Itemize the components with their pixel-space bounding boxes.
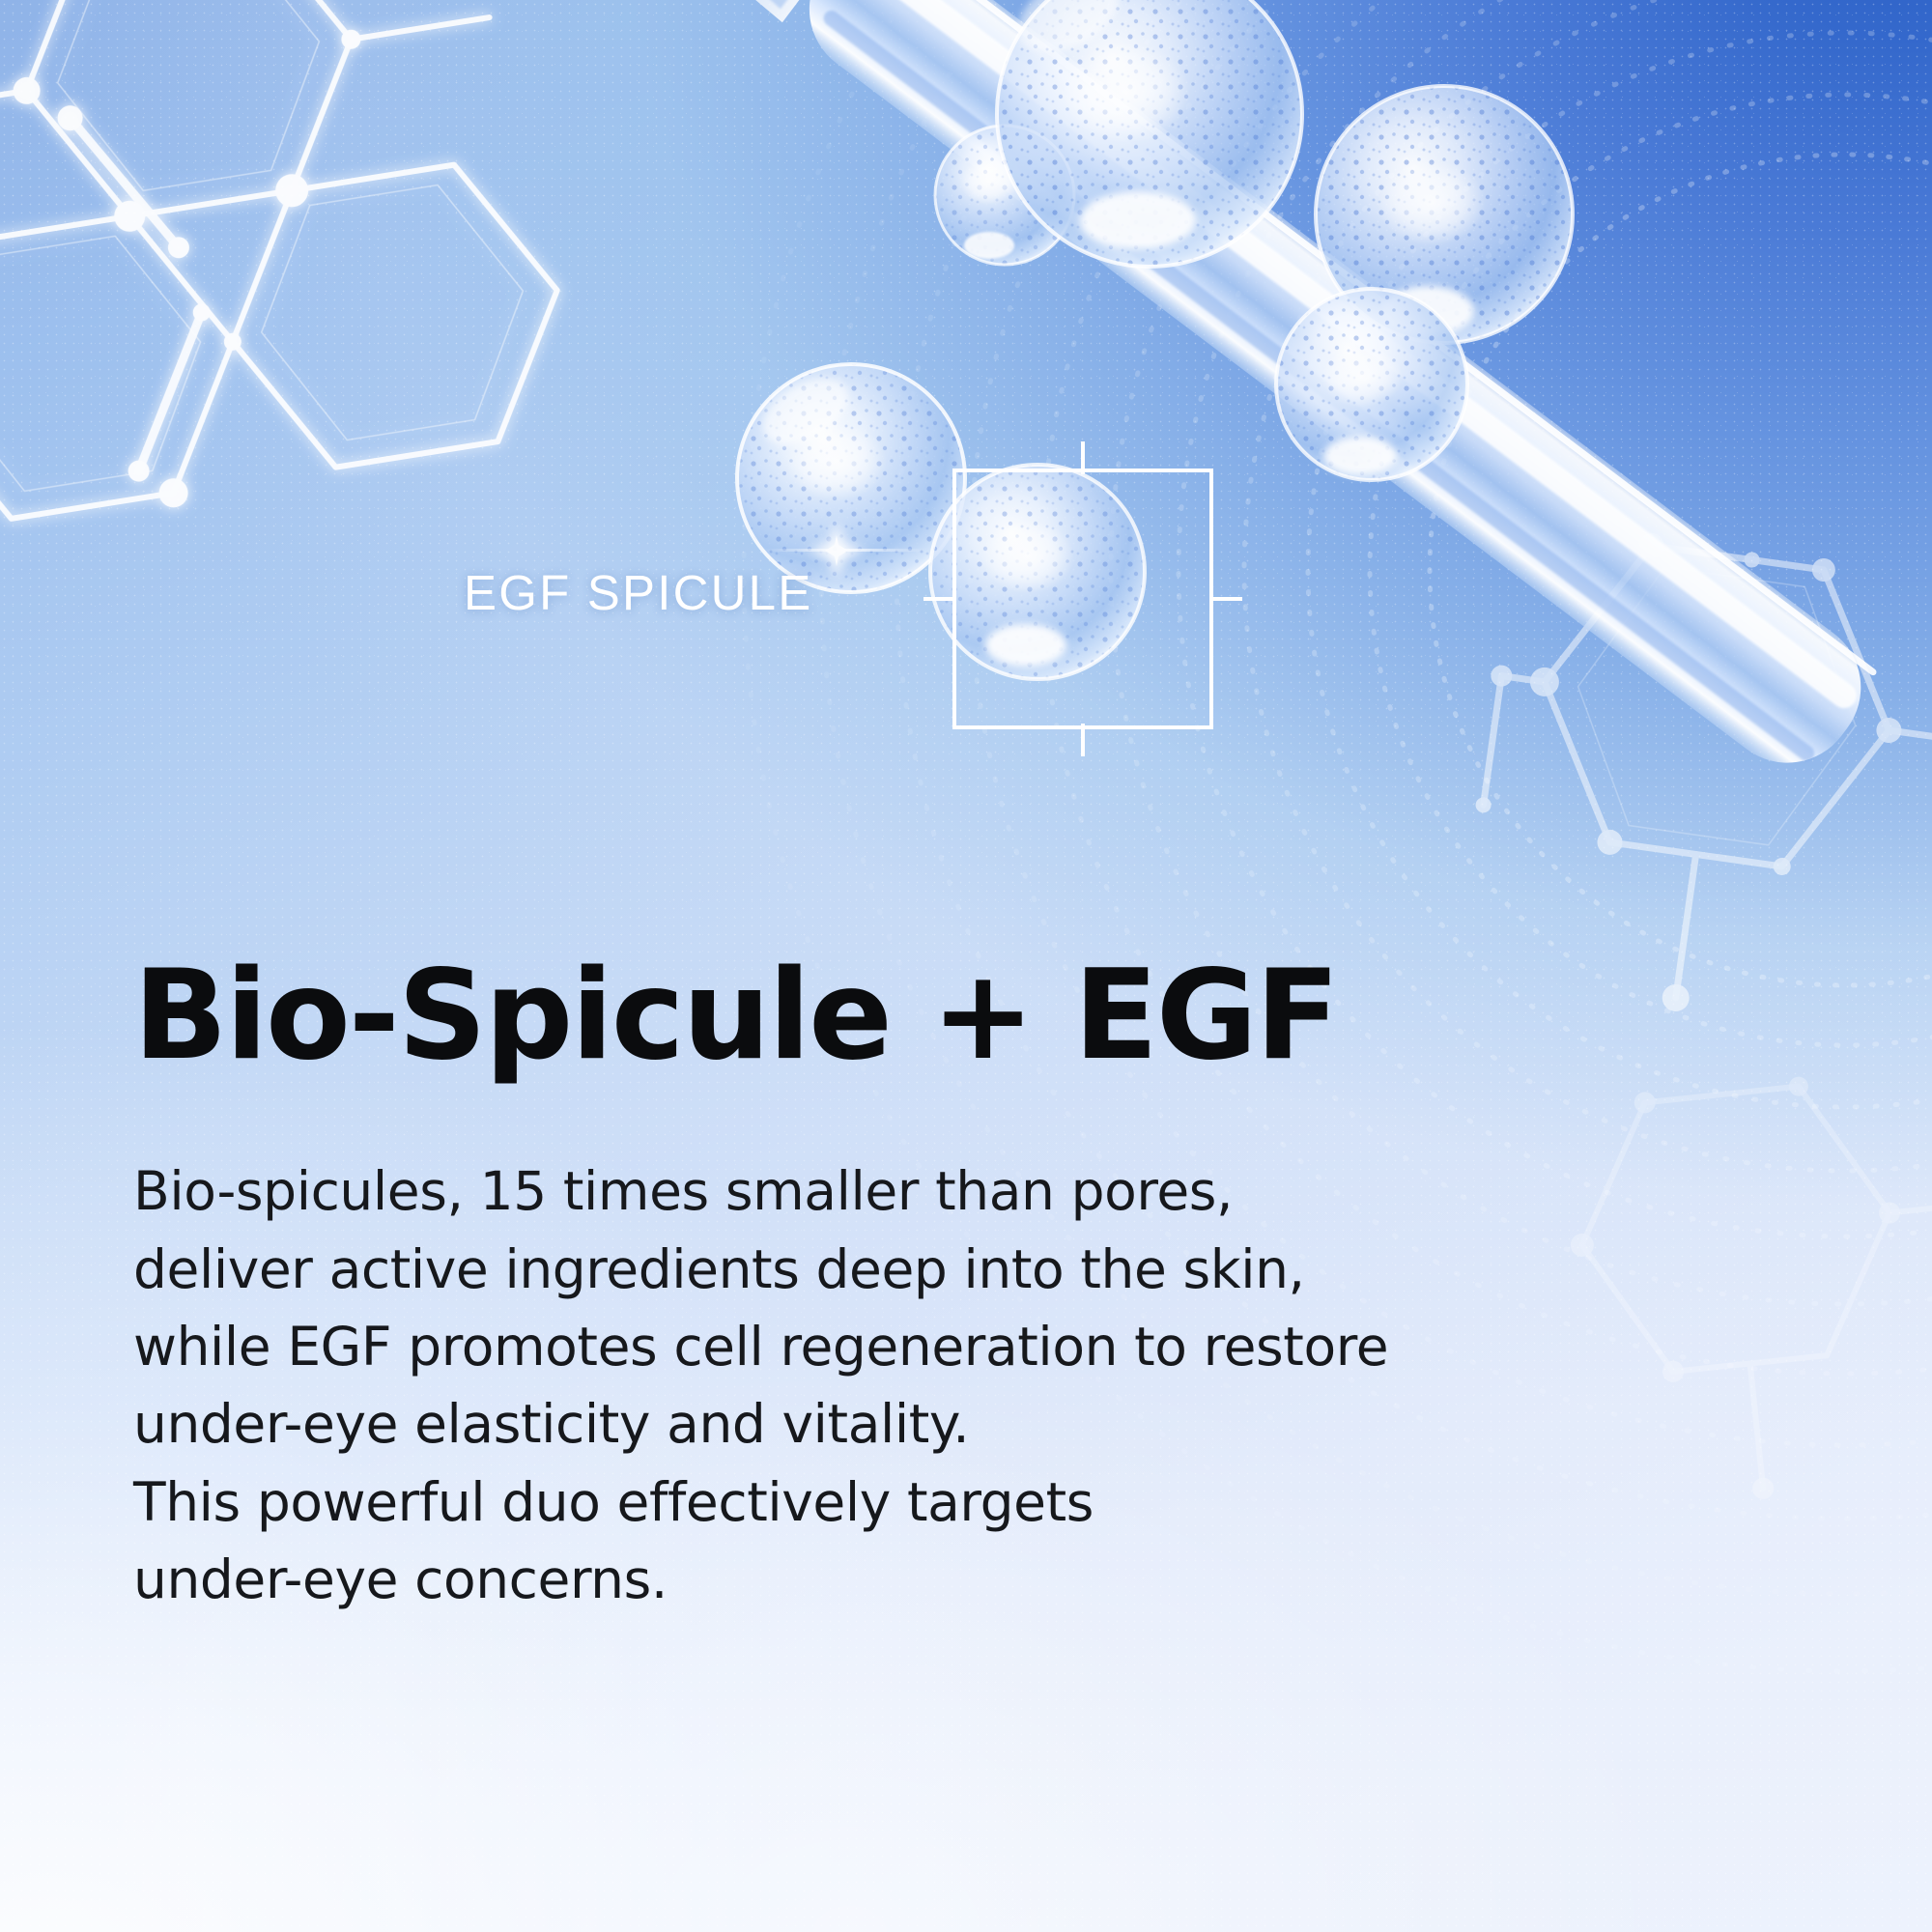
body-line: Bio-spicules, 15 times smaller than pore… <box>133 1152 1853 1230</box>
bubble-mid-lower <box>1276 289 1467 480</box>
glass-pipette-dropper-artwork <box>599 0 1932 1014</box>
bubble-lower-right <box>930 465 1145 679</box>
copy-block: Bio-Spicule + EGF Bio-spicules, 15 times… <box>133 947 1853 1618</box>
focus-bracket <box>952 469 1213 729</box>
body-line: deliver active ingredients deep into the… <box>133 1231 1853 1308</box>
body-paragraph: Bio-spicules, 15 times smaller than pore… <box>133 1152 1853 1618</box>
body-line: under-eye concerns. <box>133 1541 1853 1618</box>
bubble-focused <box>737 364 965 592</box>
bubble-large-top <box>997 0 1302 267</box>
crosshair-tick-right-icon <box>1209 597 1242 601</box>
hex-lattice-top-left <box>0 0 589 560</box>
focus-bracket-box <box>952 469 1213 729</box>
crosshair-tick-bottom-icon <box>1081 724 1085 756</box>
page-title: Bio-Spicule + EGF <box>133 947 1853 1085</box>
body-line: under-eye elasticity and vitality. <box>133 1385 1853 1463</box>
bubble-large-right <box>1316 86 1573 343</box>
bubble-small-left <box>935 126 1074 265</box>
body-line: while EGF promotes cell regeneration to … <box>133 1308 1853 1385</box>
crosshair-tick-left-icon <box>923 597 956 601</box>
callout-label-egf-spicule: EGF SPICULE <box>464 568 812 617</box>
crosshair-tick-top-icon <box>1081 441 1085 474</box>
infographic-canvas: EGF SPICULE Bio-Spicule + EGF Bio-spicul… <box>0 0 1932 1932</box>
body-line: This powerful duo effectively targets <box>133 1463 1853 1541</box>
